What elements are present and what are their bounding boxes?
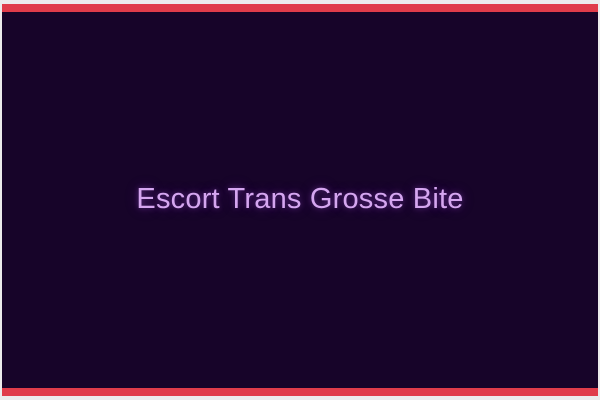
bottom-accent-bar	[2, 388, 598, 396]
banner-card: Escort Trans Grosse Bite	[2, 4, 598, 396]
top-accent-bar	[2, 4, 598, 12]
page-background: Escort Trans Grosse Bite	[0, 0, 600, 400]
banner-headline: Escort Trans Grosse Bite	[112, 183, 487, 216]
